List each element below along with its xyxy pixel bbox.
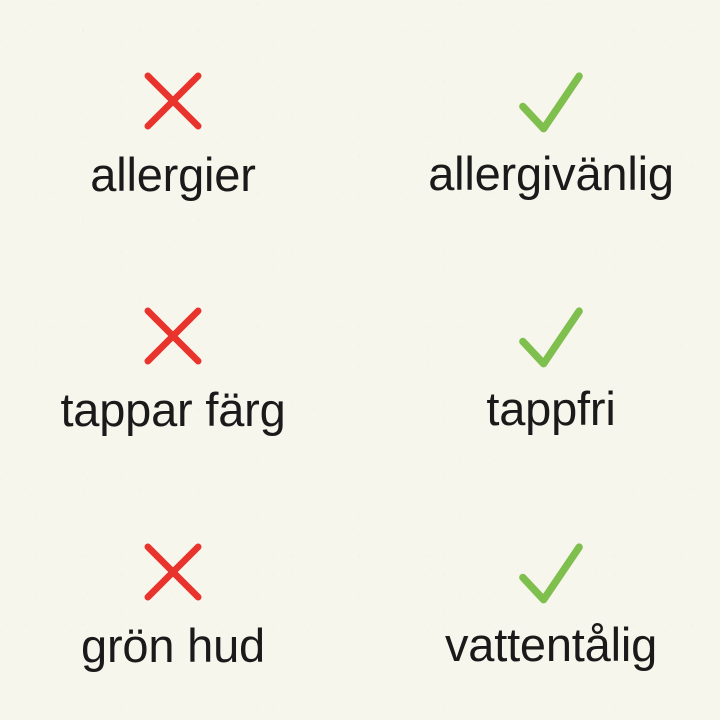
- check-icon: [514, 300, 588, 380]
- comparison-label: grön hud: [81, 621, 265, 670]
- comparison-cell-negative-3: grön hud: [0, 485, 360, 720]
- comparison-board: allergier allergivänlig tappar färg tapp…: [0, 0, 720, 720]
- comparison-label: allergivänlig: [428, 149, 674, 198]
- check-icon: [514, 536, 588, 616]
- check-icon: [514, 65, 588, 145]
- comparison-cell-negative-2: tappar färg: [0, 249, 360, 484]
- comparison-label: vattentålig: [445, 620, 657, 669]
- cross-icon: [136, 535, 210, 609]
- comparison-cell-positive-2: tappfri: [360, 249, 720, 484]
- comparison-label: tappfri: [486, 384, 615, 433]
- comparison-label: tappar färg: [60, 385, 285, 434]
- comparison-cell-negative-1: allergier: [0, 14, 360, 249]
- comparison-label: allergier: [90, 150, 255, 199]
- comparison-cell-positive-3: vattentålig: [360, 485, 720, 720]
- cross-icon: [136, 64, 210, 138]
- comparison-grid: allergier allergivänlig tappar färg tapp…: [0, 0, 720, 720]
- comparison-cell-positive-1: allergivänlig: [360, 14, 720, 249]
- cross-icon: [136, 299, 210, 373]
